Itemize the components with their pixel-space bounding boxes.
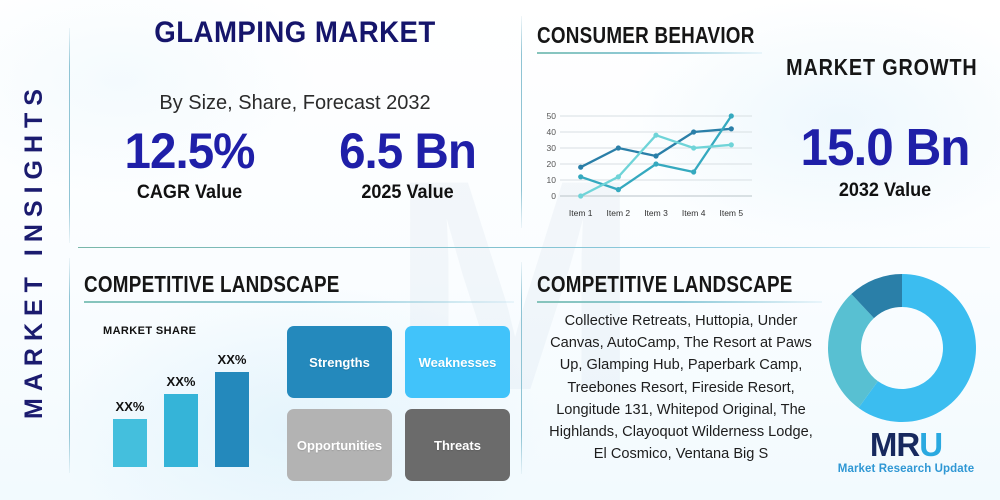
divider-horizontal	[78, 247, 990, 248]
stat-cagr-value: 12.5%	[87, 126, 291, 176]
sidebar-label: MARKET INSIGHTS	[20, 82, 49, 419]
consumer-behavior-line-chart: 01020304050 Item 1Item 2Item 3Item 4Item…	[536, 100, 758, 218]
stat-2032: 15.0 Bn 2032 Value	[780, 122, 990, 202]
bar-value-label-2: XX%	[167, 374, 196, 389]
y-tick-label: 50	[536, 111, 556, 121]
bar-3	[215, 372, 249, 467]
market-growth-heading: MARKET GROWTH	[787, 54, 978, 81]
stat-2032-label: 2032 Value	[785, 180, 985, 202]
stat-2025-value: 6.5 Bn	[305, 126, 509, 176]
data-point	[729, 113, 734, 118]
swot-box-weaknesses[interactable]: Weaknesses	[405, 326, 510, 398]
data-point	[616, 145, 621, 150]
data-point	[691, 145, 696, 150]
swot-matrix: Strengths Weaknesses Opportunities Threa…	[287, 326, 512, 481]
x-tick-label: Item 5	[719, 208, 743, 218]
logo-subtitle: Market Research Update	[836, 463, 976, 475]
sidebar-rail: MARKET INSIGHTS	[0, 0, 69, 500]
data-point	[729, 142, 734, 147]
stat-2032-value: 15.0 Bn	[785, 122, 985, 174]
divider-vertical-mid-bottom	[521, 262, 522, 474]
company-list: Collective Retreats, Huttopia, Under Can…	[545, 310, 817, 465]
data-point	[578, 165, 583, 170]
bar-value-label-3: XX%	[218, 352, 247, 367]
competitive-landscape-left-panel: COMPETITIVE LANDSCAPE	[84, 271, 514, 303]
data-point	[691, 169, 696, 174]
x-tick-label: Item 3	[644, 208, 668, 218]
data-point	[616, 187, 621, 192]
logo-mark-primary: MR	[870, 426, 919, 463]
y-tick-label: 40	[536, 127, 556, 137]
data-point	[653, 133, 658, 138]
line-chart-series	[578, 113, 734, 198]
swot-box-opportunities[interactable]: Opportunities	[287, 409, 392, 481]
market-share-title: MARKET SHARE	[103, 325, 196, 337]
y-tick-label: 20	[536, 159, 556, 169]
x-tick-label: Item 2	[607, 208, 631, 218]
page-subtitle: By Size, Share, Forecast 2032	[70, 92, 520, 115]
data-point	[653, 161, 658, 166]
divider-vertical-rail-bottom	[69, 258, 70, 473]
competitive-landscape-right-heading: COMPETITIVE LANDSCAPE	[537, 271, 771, 298]
market-share-bar-chart: MARKET SHARE XX%XX%XX%	[95, 325, 270, 475]
page-title: GLAMPING MARKET	[88, 16, 502, 50]
stat-cagr-label: CAGR Value	[87, 182, 291, 204]
data-point	[578, 193, 583, 198]
line-chart-svg	[536, 100, 758, 218]
market-share-donut-chart	[826, 272, 978, 424]
stat-cagr: 12.5% CAGR Value	[82, 126, 297, 204]
data-point	[578, 174, 583, 179]
divider-vertical-mid-top	[521, 16, 522, 228]
brand-logo: MRU Market Research Update	[836, 428, 976, 475]
data-point	[691, 129, 696, 134]
data-point	[616, 174, 621, 179]
infographic-canvas: M MARKET INSIGHTS GLAMPING MARKET By Siz…	[0, 0, 1000, 500]
line-series-2	[581, 116, 732, 190]
competitive-landscape-left-rule	[84, 301, 514, 303]
bar-1	[113, 419, 147, 467]
logo-wordmark: MRU	[836, 428, 976, 461]
stat-2025-label: 2025 Value	[305, 182, 509, 204]
logo-mark-accent: U	[919, 426, 942, 463]
y-tick-label: 10	[536, 175, 556, 185]
competitive-landscape-left-heading: COMPETITIVE LANDSCAPE	[84, 271, 437, 298]
competitive-landscape-right-panel: COMPETITIVE LANDSCAPE	[537, 271, 822, 303]
y-tick-label: 30	[536, 143, 556, 153]
donut-segments	[828, 274, 976, 422]
donut-chart-svg	[826, 272, 978, 424]
bar-value-label-1: XX%	[116, 399, 145, 414]
competitive-landscape-right-rule	[537, 301, 822, 303]
stat-2025: 6.5 Bn 2025 Value	[300, 126, 515, 204]
consumer-behavior-rule	[537, 52, 762, 54]
swot-box-threats[interactable]: Threats	[405, 409, 510, 481]
data-point	[729, 126, 734, 131]
consumer-behavior-panel: CONSUMER BEHAVIOR	[537, 22, 762, 54]
x-tick-label: Item 1	[569, 208, 593, 218]
y-tick-label: 0	[536, 191, 556, 201]
swot-box-strengths[interactable]: Strengths	[287, 326, 392, 398]
data-point	[653, 153, 658, 158]
bar-2	[164, 394, 198, 467]
consumer-behavior-heading: CONSUMER BEHAVIOR	[537, 22, 722, 49]
x-tick-label: Item 4	[682, 208, 706, 218]
divider-vertical-rail-top	[69, 28, 70, 243]
